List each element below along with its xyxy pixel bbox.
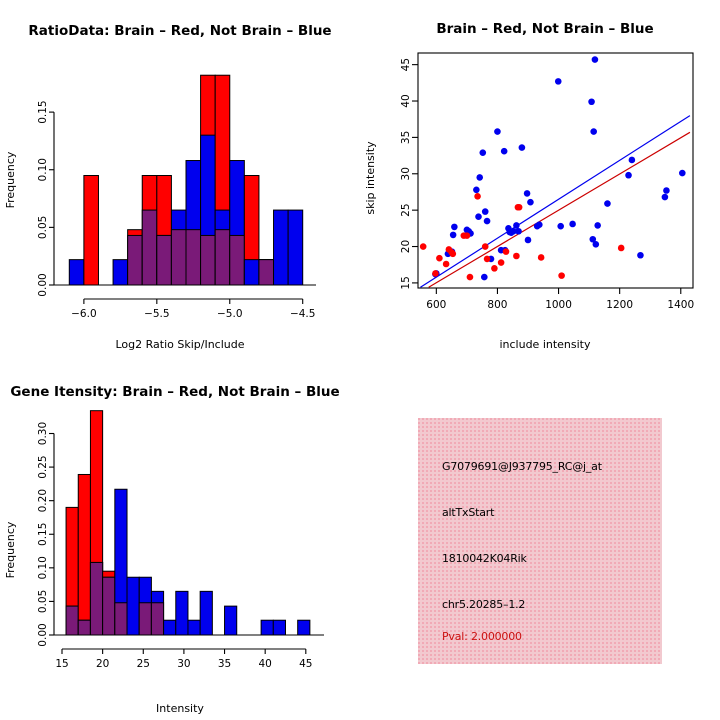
scatter-point	[629, 157, 636, 164]
scatter-point	[482, 208, 489, 215]
histogram-bar-red	[84, 176, 99, 286]
y-axis-tick-label: 20	[400, 240, 412, 253]
x-axis-tick-label: 35	[218, 658, 231, 670]
x-axis-tick-label: −6.0	[71, 308, 97, 320]
x-axis-tick-label: 40	[258, 658, 271, 670]
histogram-bar-overlap	[230, 235, 245, 285]
scatter-point	[558, 272, 565, 279]
histogram-bar-overlap	[142, 210, 157, 285]
scatter-point	[450, 251, 457, 258]
scatter-point	[516, 204, 523, 211]
y-axis-tick-label: 0.20	[37, 489, 49, 512]
x-axis-tick-label: 800	[487, 299, 507, 311]
scatter-point	[604, 200, 611, 207]
histogram-bar-blue	[200, 591, 212, 635]
scatter-point	[513, 253, 520, 260]
scatter-point	[451, 224, 458, 231]
histogram-bar-overlap	[128, 235, 143, 285]
scatter-point	[482, 243, 489, 250]
y-axis-tick-label: 30	[400, 167, 412, 180]
y-axis-tick-label: 0.10	[37, 158, 49, 181]
x-axis-tick-label: 25	[137, 658, 150, 670]
intensity-scatter-title: Brain – Red, Not Brain – Blue	[436, 21, 653, 37]
scatter-point	[494, 128, 501, 135]
y-axis-tick-label: 45	[400, 58, 412, 71]
scatter-point	[436, 255, 443, 262]
scatter-point	[420, 243, 427, 250]
scatter-fit-lines	[420, 116, 690, 288]
histogram-bar-blue	[188, 620, 200, 635]
y-axis-tick-label: 40	[400, 94, 412, 107]
scatter-point	[473, 186, 480, 193]
histogram-bar-blue	[288, 210, 303, 285]
x-axis-tick-label: 1400	[667, 299, 694, 311]
histogram-bar-blue	[244, 260, 259, 285]
intensity-scatter-svg: Brain – Red, Not Brain – Blue 1520253035…	[360, 0, 720, 360]
scatter-point	[467, 274, 474, 281]
scatter-points	[420, 56, 686, 280]
histogram-bar-blue	[274, 210, 289, 285]
ratio-histogram-bars	[69, 75, 302, 285]
scatter-point	[555, 78, 562, 85]
gene-histogram-title: Gene Itensity: Brain – Red, Not Brain – …	[10, 384, 339, 400]
scatter-point	[475, 213, 482, 220]
scatter-plot-frame	[418, 53, 693, 288]
scatter-point	[538, 254, 545, 261]
scatter-point	[663, 187, 670, 194]
histogram-bar-overlap	[103, 577, 115, 635]
histogram-bar-blue	[69, 260, 84, 285]
scatter-point	[524, 190, 531, 197]
y-axis-tick-label: 0.15	[37, 100, 49, 123]
scatter-point	[513, 222, 520, 229]
y-axis-tick-label: 0.30	[37, 422, 49, 445]
scatter-point	[594, 222, 601, 229]
scatter-point	[519, 144, 526, 151]
scatter-point	[484, 256, 491, 263]
scatter-point	[569, 221, 576, 228]
scatter-point	[443, 261, 450, 268]
panel-intensity-scatter: Brain – Red, Not Brain – Blue 1520253035…	[360, 0, 720, 360]
scatter-point	[474, 193, 481, 200]
histogram-bar-red	[78, 474, 90, 635]
gene-info-card: G7079691@J937795_RC@j_at altTxStart 1810…	[418, 418, 662, 664]
gene-histogram-svg: Gene Itensity: Brain – Red, Not Brain – …	[0, 360, 360, 720]
x-axis-tick-label: 1200	[606, 299, 633, 311]
scatter-point	[618, 245, 625, 252]
scatter-plot-box	[418, 53, 693, 288]
panel-ratio-histogram: RatioData: Brain – Red, Not Brain – Blue…	[0, 0, 360, 360]
scatter-point	[662, 194, 669, 201]
panel-gene-info: G7079691@J937795_RC@j_at altTxStart 1810…	[360, 360, 720, 720]
ratio-histogram-svg: RatioData: Brain – Red, Not Brain – Blue…	[0, 0, 360, 360]
histogram-bar-blue	[164, 620, 176, 635]
scatter-point	[593, 241, 600, 248]
scatter-point	[450, 232, 457, 239]
histogram-bar-overlap	[171, 230, 186, 285]
scatter-axes: 15202530354045600800100012001400	[400, 58, 694, 311]
scatter-point	[484, 218, 491, 225]
y-axis-tick-label: 0.10	[37, 556, 49, 579]
x-axis-tick-label: 20	[96, 658, 109, 670]
x-axis-tick-label: 1000	[545, 299, 572, 311]
scatter-point	[476, 174, 483, 181]
gene-histogram-bars	[66, 411, 310, 635]
x-axis-tick-label: −4.5	[290, 308, 316, 320]
histogram-bar-overlap	[186, 230, 201, 285]
histogram-bar-blue	[225, 606, 237, 635]
y-axis-tick-label: 15	[400, 276, 412, 289]
scatter-point	[588, 98, 595, 105]
scatter-fit-line	[420, 116, 690, 288]
x-axis-tick-label: −5.0	[217, 308, 243, 320]
histogram-bar-overlap	[115, 603, 127, 635]
histogram-bar-blue	[273, 620, 285, 635]
scatter-point	[625, 172, 632, 179]
histogram-bar-overlap	[90, 562, 102, 635]
figure-root: RatioData: Brain – Red, Not Brain – Blue…	[0, 0, 720, 720]
gene-info-pval: Pval: 2.000000	[442, 630, 522, 643]
scatter-point	[527, 199, 534, 206]
histogram-bar-blue	[127, 577, 139, 635]
gene-histogram-ylabel: Frequency	[4, 521, 17, 578]
histogram-bar-overlap	[151, 603, 163, 635]
y-axis-tick-label: 0.00	[37, 623, 49, 646]
histogram-bar-overlap	[157, 235, 172, 285]
y-axis-tick-label: 0.15	[37, 523, 49, 546]
scatter-point	[525, 237, 532, 244]
scatter-point	[479, 149, 486, 156]
y-axis-tick-label: 25	[400, 203, 412, 216]
scatter-fit-line	[429, 132, 690, 287]
y-axis-tick-label: 0.25	[37, 455, 49, 478]
histogram-bar-overlap	[215, 230, 230, 285]
x-axis-tick-label: 30	[177, 658, 190, 670]
gene-info-probe-id: G7079691@J937795_RC@j_at	[442, 460, 602, 473]
scatter-point	[464, 232, 471, 239]
histogram-bar-overlap	[66, 606, 78, 635]
gene-info-event-type: altTxStart	[442, 506, 494, 519]
x-axis-tick-label: −5.5	[144, 308, 170, 320]
scatter-point	[590, 128, 597, 135]
y-axis-tick-label: 35	[400, 131, 412, 144]
y-axis-tick-label: 0.00	[37, 273, 49, 296]
gene-info-locus: chr5.20285–1.2	[442, 598, 525, 611]
histogram-bar-blue	[261, 620, 273, 635]
intensity-scatter-ylabel: skip intensity	[364, 141, 377, 215]
histogram-bar-overlap	[201, 235, 216, 285]
scatter-point	[679, 170, 686, 177]
x-axis-tick-label: 600	[426, 299, 446, 311]
scatter-point	[481, 274, 488, 281]
ratio-histogram-title: RatioData: Brain – Red, Not Brain – Blue	[28, 23, 331, 39]
ratio-histogram-ylabel: Frequency	[4, 151, 17, 208]
histogram-bar-overlap	[78, 620, 90, 635]
x-axis-tick-label: 15	[55, 658, 68, 670]
histogram-bar-overlap	[139, 603, 151, 635]
histogram-bar-blue	[298, 620, 310, 635]
y-axis-tick-label: 0.05	[37, 590, 49, 613]
scatter-point	[498, 259, 505, 266]
scatter-point	[536, 221, 543, 228]
scatter-point	[592, 56, 599, 63]
ratio-histogram-xlabel: Log2 Ratio Skip/Include	[115, 338, 244, 351]
scatter-point	[501, 148, 508, 155]
scatter-point	[515, 228, 522, 235]
histogram-bar-blue	[113, 260, 128, 285]
x-axis-tick-label: 45	[299, 658, 312, 670]
gene-info-gene-symbol: 1810042K04Rik	[442, 552, 527, 565]
scatter-point	[503, 248, 510, 255]
intensity-scatter-xlabel: include intensity	[499, 338, 591, 351]
gene-histogram-xlabel: Intensity	[156, 702, 204, 715]
scatter-point	[491, 265, 498, 272]
histogram-bar-blue	[176, 591, 188, 635]
y-axis-tick-label: 0.05	[37, 216, 49, 239]
panel-gene-histogram: Gene Itensity: Brain – Red, Not Brain – …	[0, 360, 360, 720]
scatter-point	[557, 223, 564, 230]
histogram-bar-overlap	[259, 260, 274, 285]
scatter-point	[637, 252, 644, 259]
scatter-point	[432, 270, 439, 277]
